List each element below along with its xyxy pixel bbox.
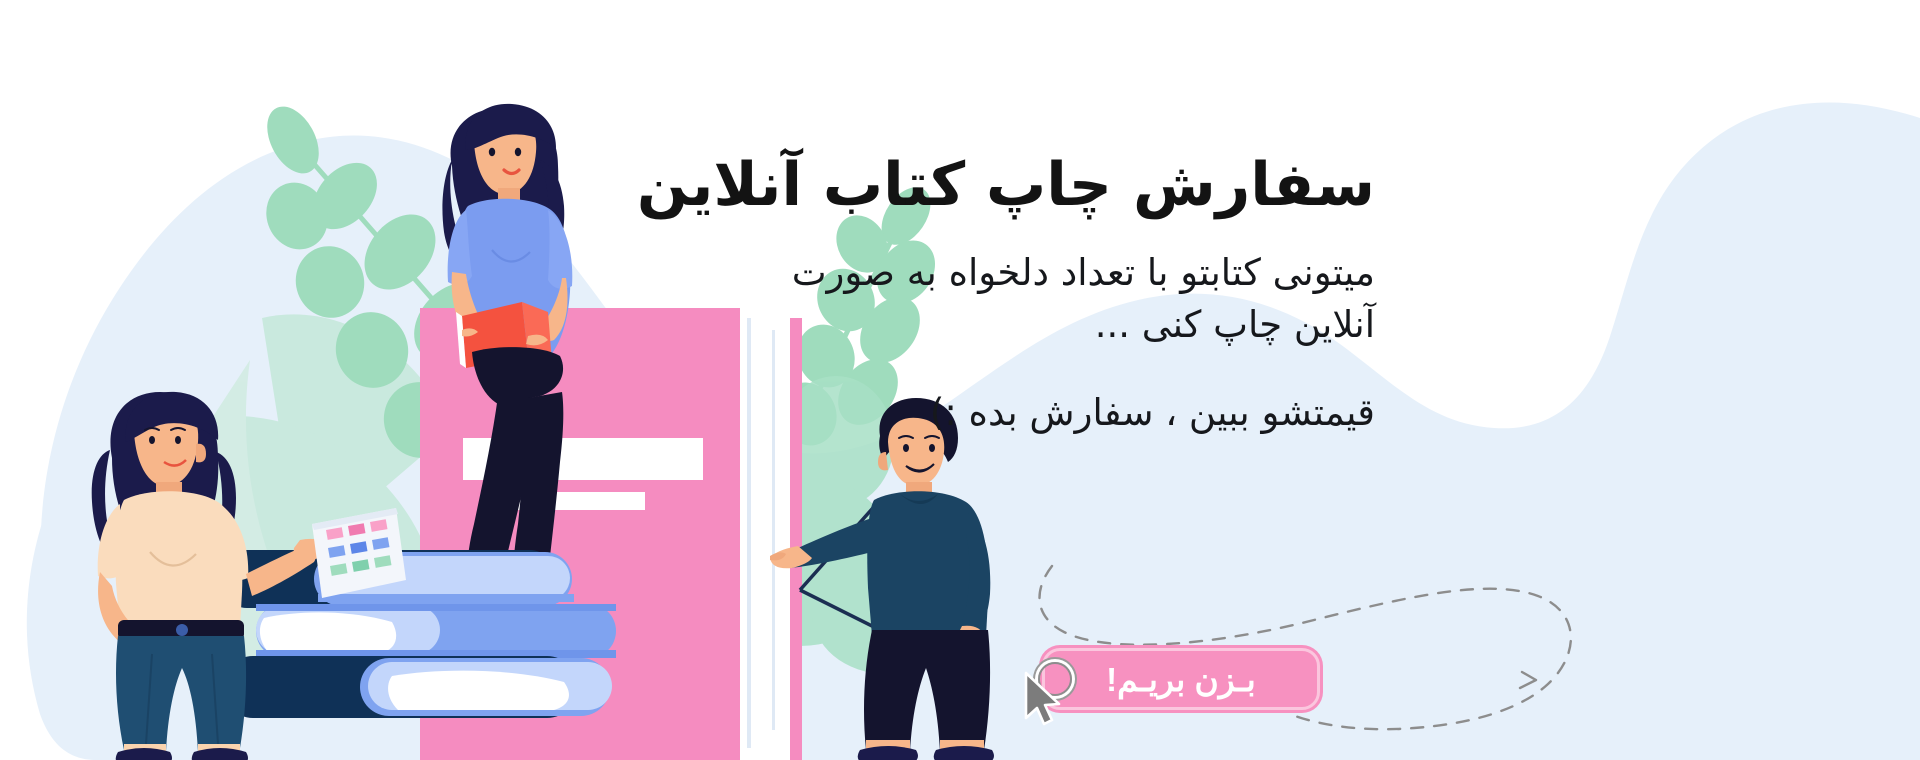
cta-button-label: بـزن بریـم! <box>1106 663 1256 696</box>
cta-button[interactable]: بـزن بریـم! <box>1042 648 1320 710</box>
banner-root: سفارش چاپ کتاب آنلاین میتونی کتابتو با ت… <box>0 0 1920 760</box>
dashed-loop-arrow <box>0 0 1920 760</box>
cta-container: بـزن بریـم! <box>1042 648 1320 710</box>
